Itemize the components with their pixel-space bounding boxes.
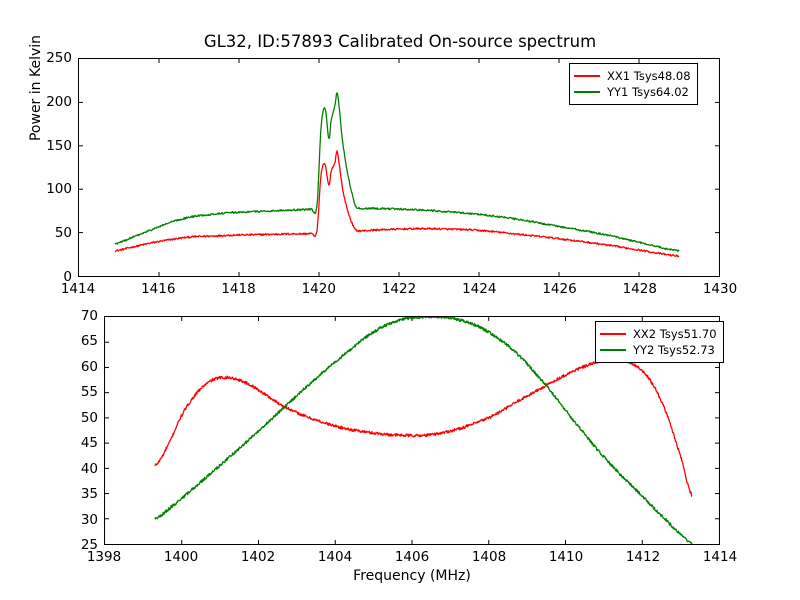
top-legend: XX1 Tsys48.08 YY1 Tsys64.02: [569, 63, 698, 105]
x-tick-label: 1428: [610, 282, 670, 296]
x-tick-label: 1404: [305, 550, 365, 564]
x-tick-label: 1418: [209, 282, 269, 296]
x-tick-label: 1422: [369, 282, 429, 296]
legend-item: YY1 Tsys64.02: [574, 84, 691, 100]
y-tick-label: 45: [58, 436, 98, 450]
x-tick-label: 1416: [128, 282, 188, 296]
y-tick-label: 35: [58, 487, 98, 501]
x-tick-label: 1398: [74, 550, 134, 564]
legend-item: XX2 Tsys51.70: [600, 326, 717, 342]
y-tick-label: 60: [58, 360, 98, 374]
y-tick-label: 50: [32, 226, 72, 240]
series-line: [115, 151, 679, 257]
top-y-axis-label: Power in Kelvin: [28, 0, 44, 188]
x-tick-label: 1414: [48, 282, 108, 296]
legend-swatch-xx2: [600, 333, 626, 335]
x-tick-label: 1420: [289, 282, 349, 296]
x-tick-label: 1414: [690, 550, 750, 564]
series-line: [155, 358, 692, 496]
page-title: GL32, ID:57893 Calibrated On-source spec…: [0, 32, 800, 52]
legend-item: XX1 Tsys48.08: [574, 68, 691, 84]
x-tick-label: 1406: [382, 550, 442, 564]
legend-item: YY2 Tsys52.73: [600, 342, 717, 358]
y-tick-label: 40: [58, 462, 98, 476]
bottom-x-axis-label: Frequency (MHz): [104, 568, 720, 584]
y-tick-label: 70: [58, 309, 98, 323]
x-tick-label: 1412: [613, 550, 673, 564]
y-tick-label: 65: [58, 334, 98, 348]
x-tick-label: 1426: [530, 282, 590, 296]
legend-swatch-yy1: [574, 91, 600, 93]
bottom-legend: XX2 Tsys51.70 YY2 Tsys52.73: [595, 321, 724, 363]
y-tick-label: 55: [58, 385, 98, 399]
figure-canvas: GL32, ID:57893 Calibrated On-source spec…: [0, 0, 800, 600]
series-line: [115, 93, 679, 251]
legend-label-xx1: XX1 Tsys48.08: [607, 70, 691, 82]
legend-label-xx2: XX2 Tsys51.70: [633, 328, 717, 340]
legend-label-yy2: YY2 Tsys52.73: [633, 344, 715, 356]
x-tick-label: 1400: [151, 550, 211, 564]
y-tick-label: 50: [58, 411, 98, 425]
legend-label-yy1: YY1 Tsys64.02: [607, 86, 689, 98]
x-tick-label: 1408: [459, 550, 519, 564]
legend-swatch-xx1: [574, 75, 600, 77]
x-tick-label: 1430: [690, 282, 750, 296]
x-tick-label: 1402: [228, 550, 288, 564]
x-tick-label: 1410: [536, 550, 596, 564]
y-tick-label: 30: [58, 513, 98, 527]
x-tick-label: 1424: [449, 282, 509, 296]
legend-swatch-yy2: [600, 349, 626, 351]
